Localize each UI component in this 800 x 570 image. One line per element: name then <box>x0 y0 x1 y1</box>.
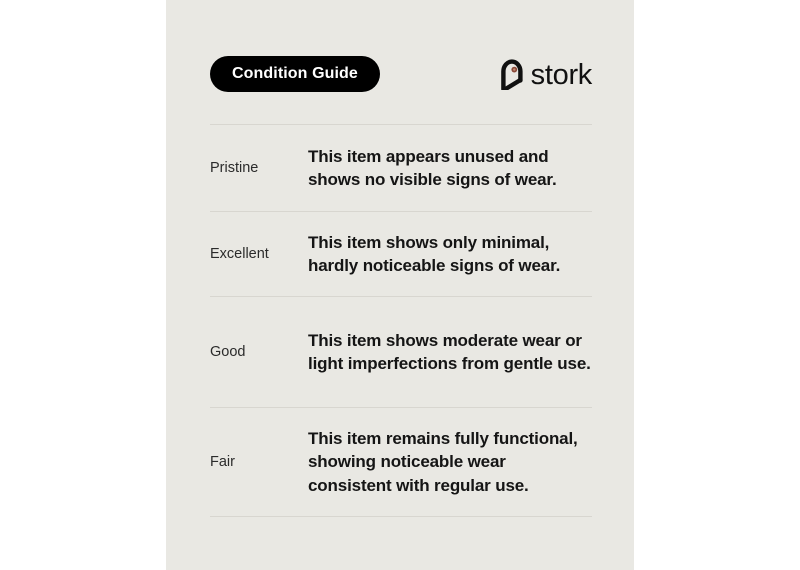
condition-description: This item shows moderate wear or light i… <box>308 315 592 390</box>
condition-label: Excellent <box>210 245 308 263</box>
table-row: Good This item shows moderate wear or li… <box>210 297 592 408</box>
condition-description: This item shows only minimal, hardly not… <box>308 217 592 292</box>
condition-table: Pristine This item appears unused and sh… <box>210 124 592 517</box>
condition-description: This item remains fully functional, show… <box>308 413 592 511</box>
condition-guide-card: Condition Guide stork Pristine This item… <box>166 0 634 570</box>
condition-guide-pill[interactable]: Condition Guide <box>210 56 380 92</box>
condition-label: Pristine <box>210 159 308 177</box>
table-row: Pristine This item appears unused and sh… <box>210 125 592 212</box>
screenshot-root: Condition Guide stork Pristine This item… <box>0 0 800 570</box>
condition-label: Fair <box>210 453 308 471</box>
brand-lockup: stork <box>499 56 592 92</box>
stork-arch-logo-icon <box>499 59 524 90</box>
condition-description: This item appears unused and shows no vi… <box>308 131 592 206</box>
brand-wordmark: stork <box>531 61 592 90</box>
card-header: Condition Guide stork <box>210 56 592 92</box>
table-row: Fair This item remains fully functional,… <box>210 408 592 517</box>
condition-label: Good <box>210 343 308 361</box>
table-row: Excellent This item shows only minimal, … <box>210 212 592 297</box>
